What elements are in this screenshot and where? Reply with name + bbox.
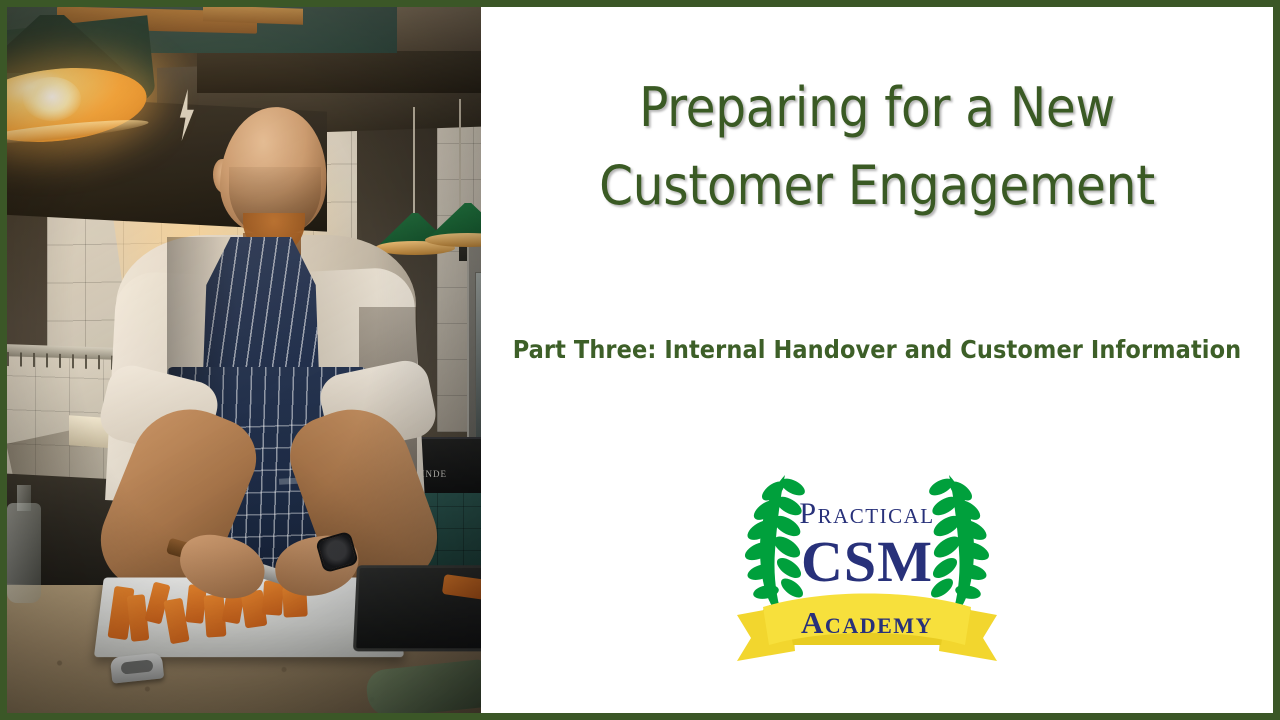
photo-vignette	[7, 7, 481, 713]
laurel-left-icon	[742, 475, 807, 619]
presentation-slide: LINDE	[0, 0, 1280, 720]
logo-word-practical: Practical	[799, 497, 934, 530]
slide-subtitle: Part Three: Internal Handover and Custom…	[501, 335, 1253, 364]
logo-graphic: Practical CSM Academy	[733, 455, 1001, 673]
logo-word-academy: Academy	[801, 605, 933, 640]
kitchen-chef-photo: LINDE	[7, 7, 481, 713]
slide-title: Preparing for a New Customer Engagement	[511, 69, 1243, 225]
practical-csm-academy-logo: Practical CSM Academy	[733, 455, 1001, 673]
logo-word-csm: CSM	[801, 529, 933, 594]
laurel-right-icon	[926, 475, 991, 619]
slide-content-area: Preparing for a New Customer Engagement …	[481, 7, 1273, 713]
slide-title-line-2: Customer Engagement	[511, 147, 1243, 225]
slide-title-line-1: Preparing for a New	[511, 69, 1243, 147]
